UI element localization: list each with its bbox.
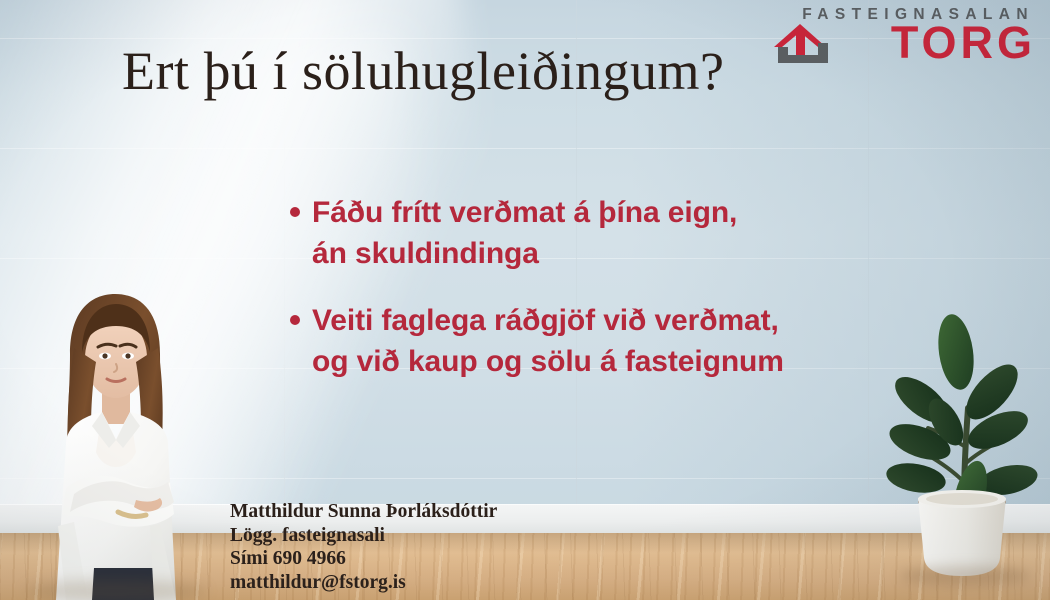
- agent-shadow: [26, 580, 206, 600]
- logo-wordmark: TORG: [891, 20, 1036, 65]
- contact-phone: Sími 690 4966: [230, 547, 497, 571]
- list-item: Fáðu frítt verðmat á þína eign, án skuld…: [290, 192, 890, 274]
- agent-photo: [8, 276, 223, 600]
- contact-name: Matthildur Sunna Þorláksdóttir: [230, 500, 497, 524]
- plant-decoration: [872, 296, 1050, 588]
- benefits-list: Fáðu frítt verðmat á þína eign, án skuld…: [290, 192, 890, 408]
- contact-title: Lögg. fasteignasali: [230, 524, 497, 548]
- promo-poster: FASTEIGNASALAN TORG Ert þú í söluhugleið…: [0, 0, 1050, 600]
- page-title: Ert þú í söluhugleiðingum?: [122, 40, 724, 102]
- bullet-dot-icon: [290, 207, 300, 217]
- house-roof-icon: [770, 21, 836, 67]
- list-item: Veiti faglega ráðgjöf við verðmat, og vi…: [290, 300, 890, 382]
- list-item-label: Veiti faglega ráðgjöf við verðmat, og vi…: [312, 300, 784, 382]
- bullet-dot-icon: [290, 315, 300, 325]
- brand-logo[interactable]: FASTEIGNASALAN TORG: [768, 4, 1036, 68]
- list-item-label: Fáðu frítt verðmat á þína eign, án skuld…: [312, 192, 737, 274]
- plant-shadow: [900, 566, 1030, 586]
- contact-email[interactable]: matthildur@fstorg.is: [230, 571, 497, 595]
- contact-block: Matthildur Sunna Þorláksdóttir Lögg. fas…: [230, 500, 497, 594]
